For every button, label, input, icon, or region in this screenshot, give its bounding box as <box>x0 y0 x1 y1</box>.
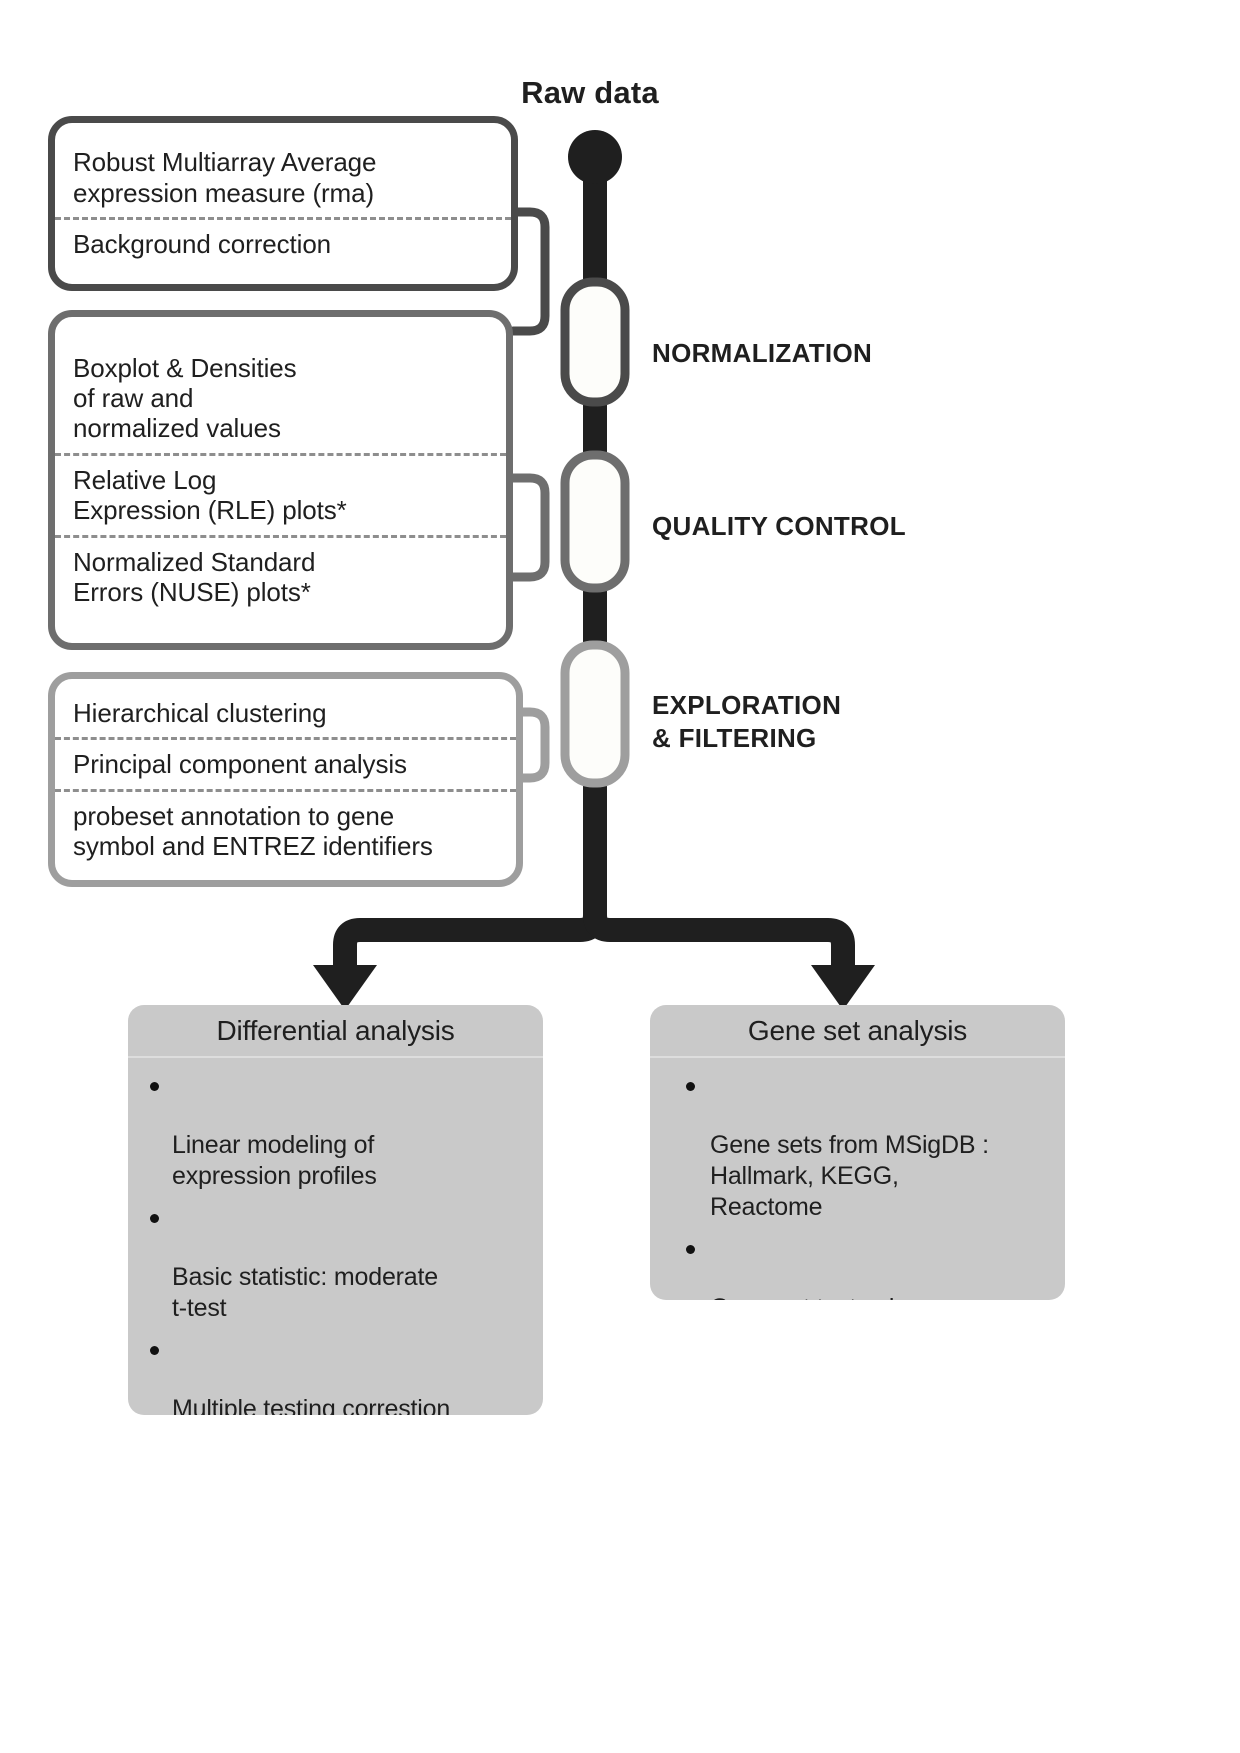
list-item-text: Basic statistic: moderate t-test <box>172 1263 438 1322</box>
list-item: Gene set test using competitive method C… <box>664 1231 1051 1300</box>
page-title: Raw data <box>440 75 740 111</box>
card-bullet-list: Linear modeling of expression profiles B… <box>128 1058 543 1415</box>
capsule-normalization <box>565 282 625 402</box>
panel-normalization[interactable]: Robust Multiarray Average expression mea… <box>48 116 518 291</box>
list-item-text: Linear modeling of expression profiles <box>172 1131 377 1190</box>
arrowhead-right <box>811 965 875 1010</box>
step-item: probeset annotation to gene symbol and E… <box>55 789 516 871</box>
card-title: Differential analysis <box>128 1005 543 1058</box>
step-item: Background correction <box>55 217 511 268</box>
bullet-dot-icon <box>150 1214 159 1223</box>
card-title: Gene set analysis <box>650 1005 1065 1058</box>
card-gene-set-analysis[interactable]: Gene set analysis Gene sets from MSigDB … <box>650 1005 1065 1300</box>
flowchart-canvas: Raw data Robust Multiarray Average expre… <box>0 0 1240 1753</box>
spine-segment-bottom <box>583 778 607 906</box>
step-item: Normalized Standard Errors (NUSE) plots* <box>55 535 506 617</box>
panel-exploration-filtering[interactable]: Hierarchical clustering Principal compon… <box>48 672 523 887</box>
step-item: Boxplot & Densities of raw and normalize… <box>55 344 506 453</box>
bullet-dot-icon <box>686 1245 695 1254</box>
bullet-dot-icon <box>150 1346 159 1355</box>
list-item: Multiple testing correstion of p-value u… <box>142 1332 529 1415</box>
list-item: Linear modeling of expression profiles <box>142 1068 529 1200</box>
card-bullet-list: Gene sets from MSigDB : Hallmark, KEGG, … <box>650 1058 1065 1300</box>
list-item-text: Gene sets from MSigDB : Hallmark, KEGG, … <box>710 1131 989 1221</box>
branch-arrow-right <box>595 890 843 985</box>
step-item: Principal component analysis <box>55 737 516 788</box>
step-item: Relative Log Expression (RLE) plots* <box>55 453 506 535</box>
list-item-text: Multiple testing correstion of p-value u… <box>172 1395 460 1415</box>
connector-quality-control <box>512 478 545 577</box>
stage-label-exploration-filtering: EXPLORATION & FILTERING <box>652 689 841 754</box>
raw-data-node <box>568 130 622 184</box>
step-item: Hierarchical clustering <box>55 689 516 737</box>
list-item: Basic statistic: moderate t-test <box>142 1200 529 1332</box>
bullet-dot-icon <box>150 1082 159 1091</box>
panel-quality-control[interactable]: Boxplot & Densities of raw and normalize… <box>48 310 513 650</box>
capsule-exploration <box>565 645 625 783</box>
stage-label-quality-control: QUALITY CONTROL <box>652 510 906 543</box>
bullet-dot-icon <box>686 1082 695 1091</box>
branch-arrow-left <box>345 890 595 985</box>
step-item: Robust Multiarray Average expression mea… <box>55 138 511 217</box>
list-item-text: Gene set test using competitive method C… <box>710 1294 923 1300</box>
card-differential-analysis[interactable]: Differential analysis Linear modeling of… <box>128 1005 543 1415</box>
arrowhead-left <box>313 965 377 1010</box>
list-item: Gene sets from MSigDB : Hallmark, KEGG, … <box>664 1068 1051 1231</box>
stage-label-normalization: NORMALIZATION <box>652 337 872 370</box>
capsule-quality-control <box>565 455 625 588</box>
